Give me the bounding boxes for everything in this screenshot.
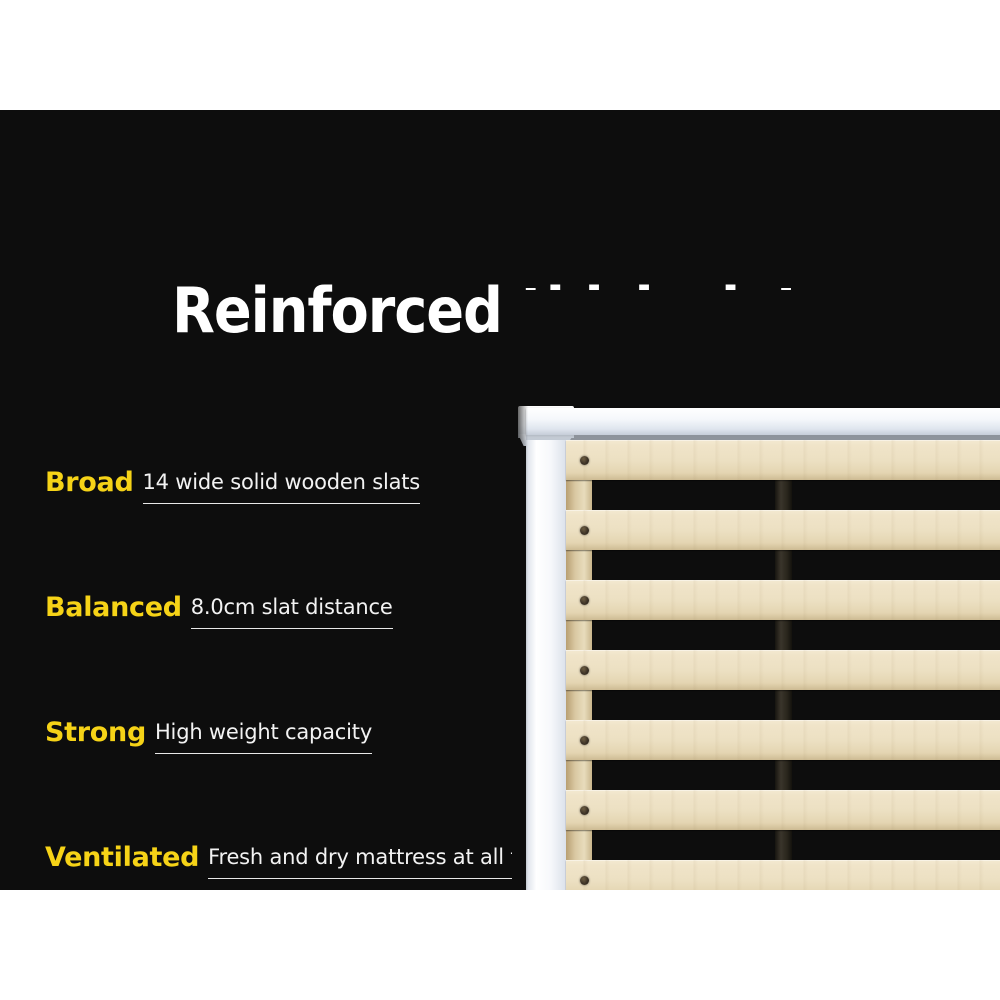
slat-screw [580, 876, 589, 885]
wooden-slat [566, 580, 1000, 620]
bed-slats-photo [512, 290, 1000, 890]
wooden-slat [566, 510, 1000, 550]
feature-value-strong: High weight capacity [155, 715, 372, 754]
slat-screw [580, 806, 589, 815]
list-item: Broad 14 wide solid wooden slats [45, 465, 585, 590]
slat-screw [580, 456, 589, 465]
list-item: Strong High weight capacity [45, 715, 585, 840]
slat-screw [580, 666, 589, 675]
slat-screw [580, 526, 589, 535]
feature-list: Broad 14 wide solid wooden slats Balance… [45, 465, 585, 890]
product-feature-image: Reinforced thick slats Broad 14 wide sol… [0, 0, 1000, 1000]
feature-key-ventilated: Ventilated [45, 840, 199, 876]
wooden-slat [566, 790, 1000, 830]
black-info-panel: Reinforced thick slats Broad 14 wide sol… [0, 110, 1000, 890]
wooden-slat [566, 650, 1000, 690]
wooden-slat [566, 720, 1000, 760]
feature-value-balanced: 8.0cm slat distance [191, 590, 393, 629]
feature-key-strong: Strong [45, 715, 146, 751]
wooden-slat [566, 440, 1000, 480]
slat-group [566, 440, 1000, 890]
feature-value-broad: 14 wide solid wooden slats [143, 465, 421, 504]
slat-screw [580, 596, 589, 605]
list-item: Ventilated Fresh and dry mattress at all… [45, 840, 585, 890]
bed-frame-top-rail [526, 408, 1000, 435]
slat-screw [580, 736, 589, 745]
wooden-slat [566, 860, 1000, 890]
list-item: Balanced 8.0cm slat distance [45, 590, 585, 715]
feature-key-broad: Broad [45, 465, 134, 501]
photo-edge-shade [512, 290, 528, 890]
bed-frame-side-post [526, 440, 566, 890]
feature-key-balanced: Balanced [45, 590, 182, 626]
